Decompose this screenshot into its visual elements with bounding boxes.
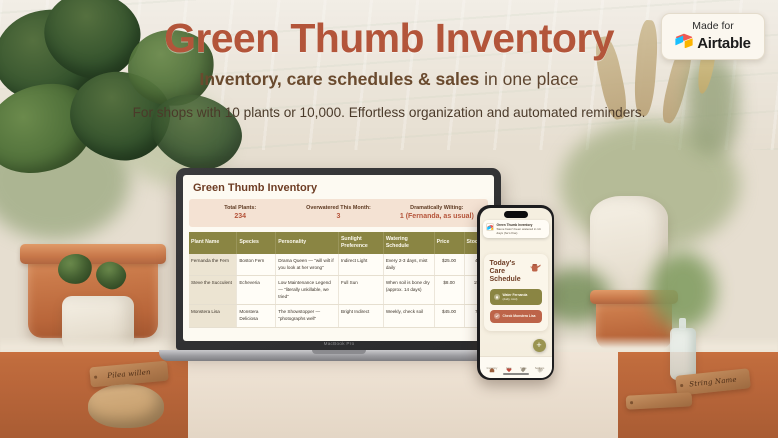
table-header: Plant Name Species Personality Sunlight … — [189, 232, 488, 254]
subtitle-regular: in one place — [479, 69, 578, 89]
watering-can-icon — [529, 260, 542, 278]
badge-brand-label: Airtable — [697, 35, 750, 52]
care-task-title: Water Fernanda — [503, 293, 528, 297]
tab-sales[interactable]: Sales — [520, 360, 527, 370]
page-subtitle: Inventory, care schedules & sales in one… — [0, 69, 778, 90]
notification-body: Steve hasn't been watered in 14 days (he… — [497, 227, 546, 236]
check-circle-icon — [494, 313, 500, 319]
badge-top-label: Made for — [692, 20, 733, 32]
tab-inventory[interactable]: Inventory — [487, 360, 498, 370]
stat-overwatered: Overwatered This Month: 3 — [289, 204, 387, 222]
cell-personality: The Showstopper — "photographs well" — [276, 305, 339, 327]
app-icon — [486, 223, 494, 231]
cell-plant-name: Fernanda the Fern — [189, 254, 237, 276]
notification-banner[interactable]: Green Thumb Inventory Steve hasn't been … — [483, 220, 549, 239]
cell-species: Monstera Deliciosa — [237, 305, 276, 327]
column-header-watering[interactable]: Watering Schedule — [383, 232, 434, 254]
cell-species: Echeveria — [237, 276, 276, 305]
tab-label: Care — [506, 367, 512, 370]
care-task-subtitle: (daily mist) — [503, 297, 528, 301]
dynamic-island — [504, 211, 528, 218]
stat-total-plants: Total Plants: 234 — [191, 204, 289, 222]
wooden-leaf-trivet — [88, 384, 164, 428]
badge-brand-row: Airtable — [675, 33, 750, 53]
cell-price: $25.00 — [434, 254, 464, 276]
care-schedule-title: Today's Care Schedule — [490, 260, 526, 285]
cell-plant-name: Steve the Succulent — [189, 276, 237, 305]
cell-sunlight: Indirect Light — [338, 254, 383, 276]
cell-plant-name: Monstera Lisa — [189, 305, 237, 327]
tag-text: Pilea willen — [107, 368, 151, 380]
laptop-base: MacBook Pro — [159, 350, 519, 361]
care-task-text: Water Fernanda (daily mist) — [503, 293, 528, 302]
airtable-logo-icon — [675, 33, 693, 53]
table-header-row: Plant Name Species Personality Sunlight … — [189, 232, 488, 254]
tab-label: Settings — [535, 367, 544, 370]
laptop-notch — [312, 350, 366, 354]
phone-screen: Green Thumb Inventory Steve hasn't been … — [480, 208, 552, 378]
care-card-header: Today's Care Schedule — [490, 260, 542, 285]
page-description: For shops with 10 plants or 10,000. Effo… — [0, 103, 778, 123]
app-title: Green Thumb Inventory — [189, 180, 488, 199]
table-row[interactable]: Monstera Lisa Monstera Deliciosa The Sho… — [189, 305, 488, 327]
column-header-sunlight[interactable]: Sunlight Preference — [338, 232, 383, 254]
table-row[interactable]: Steve the Succulent Echeveria Low Mainte… — [189, 276, 488, 305]
stat-label: Total Plants: — [191, 204, 289, 212]
stat-label: Overwatered This Month: — [289, 204, 387, 212]
notification-text: Green Thumb Inventory Steve hasn't been … — [497, 223, 546, 236]
care-task-text: Check Monstera Lisa — [503, 314, 536, 318]
promo-graphic: Green Thumb Inventory Inventory, care sc… — [0, 0, 778, 438]
add-plant-fab[interactable]: + — [533, 339, 546, 352]
pot-rim — [20, 244, 166, 264]
stat-value: 234 — [191, 212, 289, 222]
home-icon — [489, 360, 495, 366]
stats-bar: Total Plants: 234 Overwatered This Month… — [189, 199, 488, 227]
heart-icon — [506, 360, 512, 366]
care-task-item[interactable]: Check Monstera Lisa — [490, 310, 542, 323]
care-schedule-card: Today's Care Schedule — [484, 254, 548, 331]
inventory-table[interactable]: Plant Name Species Personality Sunlight … — [189, 232, 488, 328]
cell-price: $8.00 — [434, 276, 464, 305]
column-header-price[interactable]: Price — [434, 232, 464, 254]
stat-label: Dramatically Wilting: — [388, 204, 486, 212]
stat-value: 3 — [289, 212, 387, 222]
table-body: Fernanda the Fern Boston Fern Drama Quee… — [189, 254, 488, 327]
cell-personality: Low Maintenance Legend — "literally unki… — [276, 276, 339, 305]
tab-label: Sales — [520, 367, 527, 370]
laptop-mockup: Green Thumb Inventory Total Plants: 234 … — [176, 168, 501, 361]
home-indicator — [503, 373, 529, 375]
subtitle-bold: Inventory, care schedules & sales — [199, 69, 479, 89]
laptop-screen: Green Thumb Inventory Total Plants: 234 … — [183, 175, 494, 341]
made-for-airtable-badge: Made for Airtable — [661, 13, 765, 60]
care-task-item[interactable]: Water Fernanda (daily mist) — [490, 289, 542, 305]
column-header-species[interactable]: Species — [237, 232, 276, 254]
column-header-personality[interactable]: Personality — [276, 232, 339, 254]
laptop-lid: Green Thumb Inventory Total Plants: 234 … — [176, 168, 501, 350]
phone-mockup: Green Thumb Inventory Steve hasn't been … — [477, 205, 554, 380]
cell-species: Boston Fern — [237, 254, 276, 276]
tab-settings[interactable]: Settings — [535, 360, 544, 370]
stat-wilting: Dramatically Wilting: 1 (Fernanda, as us… — [388, 204, 486, 222]
cell-sunlight: Bright Indirect — [338, 305, 383, 327]
care-task-title: Check Monstera Lisa — [503, 314, 536, 318]
cell-sunlight: Full Sun — [338, 276, 383, 305]
tag-icon — [520, 360, 526, 366]
cell-watering: Every 2-3 days, mist daily — [383, 254, 434, 276]
tab-label: Inventory — [487, 367, 498, 370]
laptop-brand-label: MacBook Pro — [324, 341, 355, 346]
tag-text: String Name — [689, 376, 737, 389]
stat-value: 1 (Fernanda, as usual) — [388, 212, 486, 222]
cell-personality: Drama Queen — "will wilt if you look at … — [276, 254, 339, 276]
table-row[interactable]: Fernanda the Fern Boston Fern Drama Quee… — [189, 254, 488, 276]
water-drop-icon — [494, 294, 500, 300]
spray-bottle — [670, 328, 696, 380]
cell-watering: When soil is bone dry (approx. 14 days) — [383, 276, 434, 305]
inventory-app: Green Thumb Inventory Total Plants: 234 … — [183, 175, 494, 341]
cell-watering: Weekly, check soil — [383, 305, 434, 327]
column-header-plant-name[interactable]: Plant Name — [189, 232, 237, 254]
gear-icon — [537, 360, 543, 366]
cell-price: $45.00 — [434, 305, 464, 327]
tab-care[interactable]: Care — [506, 360, 512, 370]
